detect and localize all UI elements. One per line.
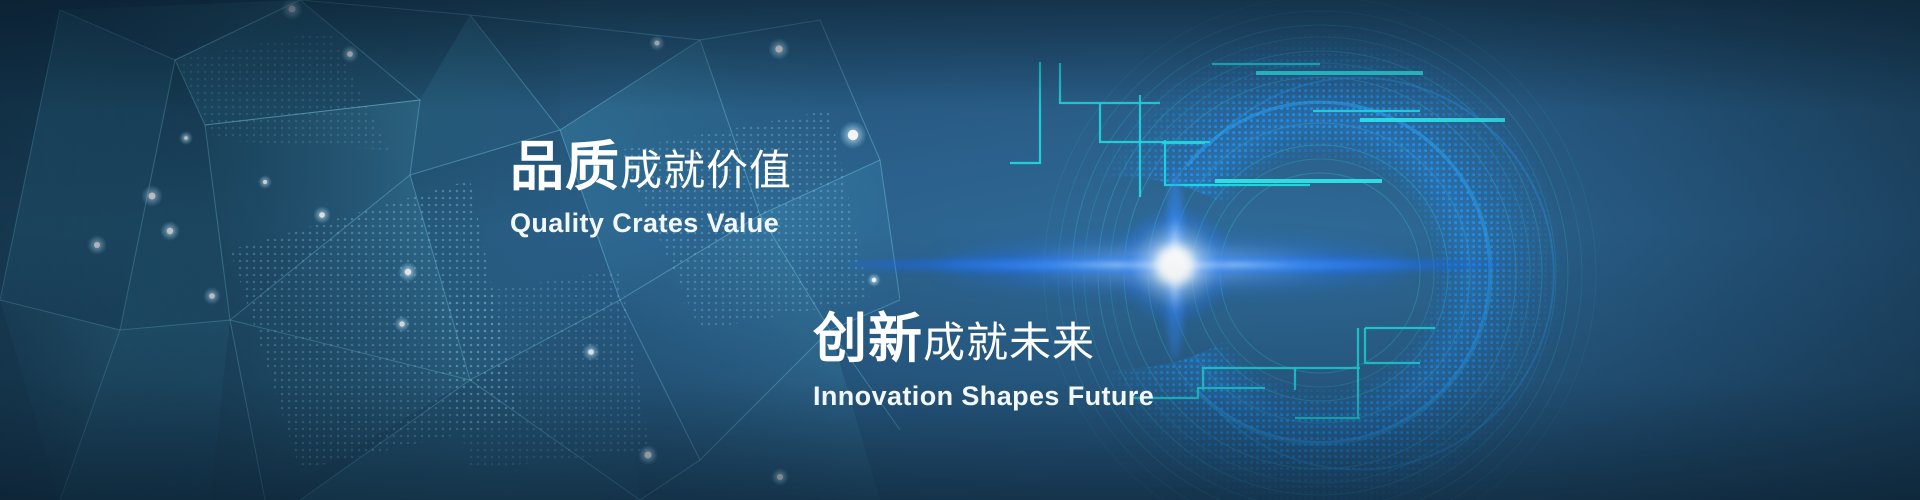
slogan-quality-cn-rest: 成就价值 xyxy=(620,147,792,194)
slogan-innovation-en: Innovation Shapes Future xyxy=(813,381,1154,412)
slogan-quality-cn-strong: 品质 xyxy=(510,137,620,197)
slogan-quality-cn: 品质成就价值 xyxy=(510,140,792,194)
slogan-quality: 品质成就价值 Quality Crates Value xyxy=(510,140,792,239)
background-vignette xyxy=(0,0,1920,500)
hero-banner: 品质成就价值 Quality Crates Value 创新成就未来 Innov… xyxy=(0,0,1920,500)
slogan-innovation-cn: 创新成就未来 xyxy=(813,312,1154,366)
slogan-quality-en: Quality Crates Value xyxy=(510,208,792,239)
slogan-innovation: 创新成就未来 Innovation Shapes Future xyxy=(813,312,1154,412)
slogan-innovation-cn-rest: 成就未来 xyxy=(923,319,1095,366)
slogan-innovation-cn-strong: 创新 xyxy=(813,309,923,369)
